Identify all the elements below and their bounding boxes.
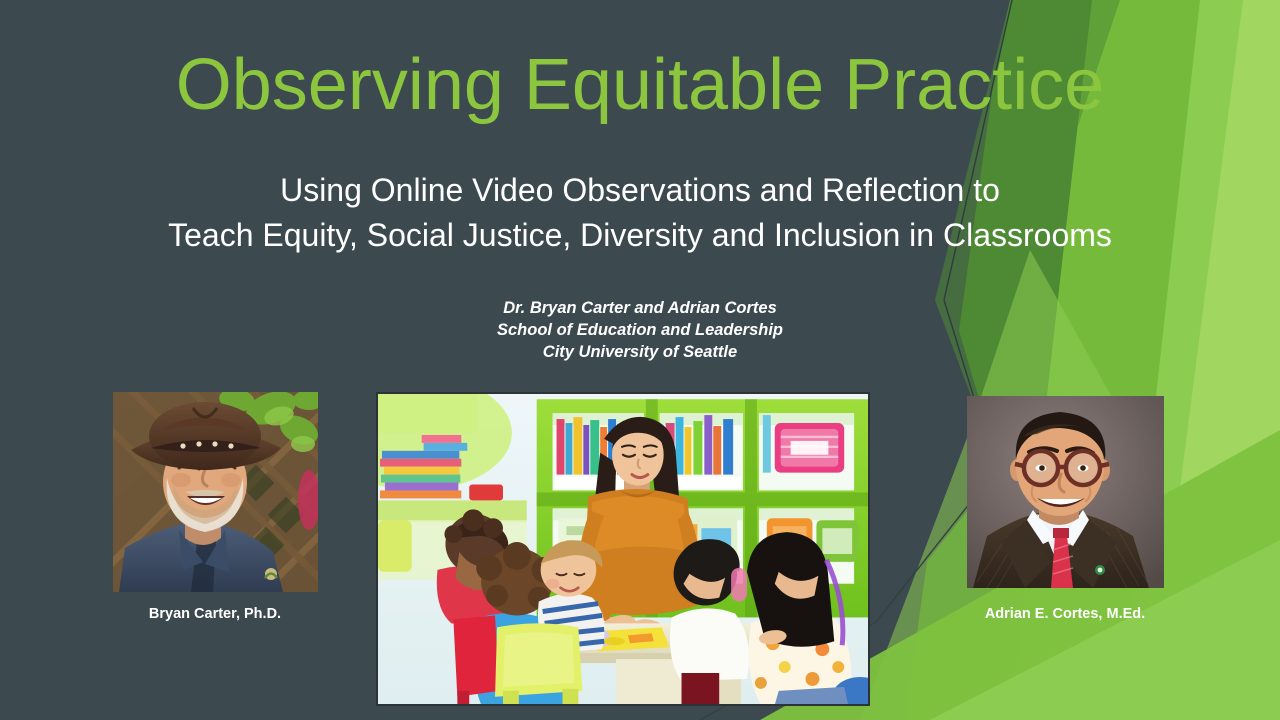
author-credits: Dr. Bryan Carter and Adrian Cortes Schoo… xyxy=(240,298,1040,364)
credits-authors: Dr. Bryan Carter and Adrian Cortes xyxy=(240,298,1040,320)
credits-school: School of Education and Leadership xyxy=(240,320,1040,342)
photo-classroom xyxy=(376,392,870,706)
slide-subtitle: Using Online Video Observations and Refl… xyxy=(90,168,1190,259)
caption-adrian-cortes: Adrian E. Cortes, M.Ed. xyxy=(930,606,1200,622)
caption-bryan-carter: Bryan Carter, Ph.D. xyxy=(80,606,350,622)
photo-classroom-image xyxy=(378,394,868,704)
photo-bryan-carter xyxy=(113,392,318,592)
slide-title: Observing Equitable Practice xyxy=(0,48,1280,124)
photo-adrian-cortes xyxy=(967,396,1164,588)
subtitle-line-1: Using Online Video Observations and Refl… xyxy=(90,168,1190,213)
presentation-slide: Observing Equitable Practice Using Onlin… xyxy=(0,0,1280,720)
credits-university: City University of Seattle xyxy=(240,342,1040,364)
photo-adrian-cortes-image xyxy=(967,396,1164,588)
photo-bryan-carter-image xyxy=(113,392,318,592)
subtitle-line-2: Teach Equity, Social Justice, Diversity … xyxy=(90,213,1190,258)
